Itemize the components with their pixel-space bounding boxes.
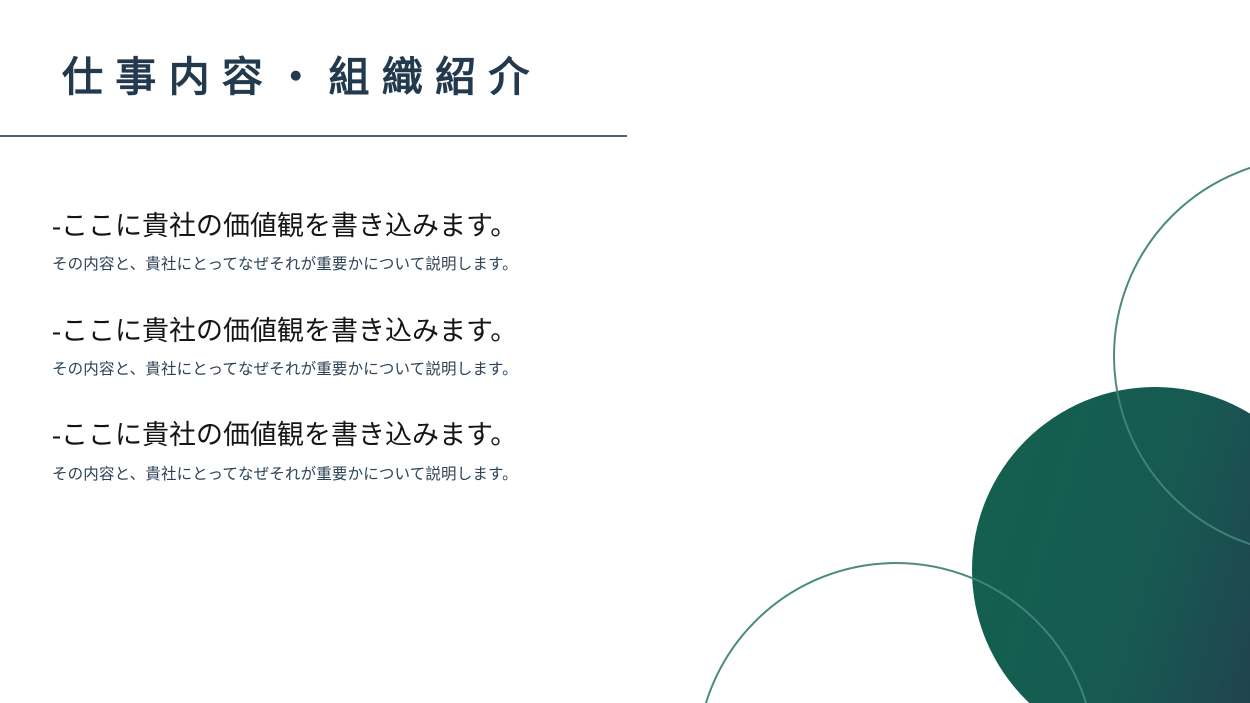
value-heading: -ここに貴社の価値観を書き込みます。 xyxy=(52,313,812,349)
value-description: その内容と、貴社にとってなぜそれが重要かについて説明します。 xyxy=(52,253,812,276)
gradient-circle-shape xyxy=(972,387,1250,703)
title-block: 仕事内容・組織紹介 xyxy=(0,52,700,103)
value-heading: -ここに貴社の価値観を書き込みます。 xyxy=(52,417,812,453)
outline-circle-top-right-shape xyxy=(1114,158,1250,554)
value-description: その内容と、貴社にとってなぜそれが重要かについて説明します。 xyxy=(52,463,812,486)
value-block: -ここに貴社の価値観を書き込みます。 その内容と、貴社にとってなぜそれが重要かに… xyxy=(52,313,812,382)
value-heading: -ここに貴社の価値観を書き込みます。 xyxy=(52,208,812,244)
slide-canvas: 仕事内容・組織紹介 -ここに貴社の価値観を書き込みます。 その内容と、貴社にとっ… xyxy=(0,0,1250,703)
page-title: 仕事内容・組織紹介 xyxy=(0,52,700,103)
value-description: その内容と、貴社にとってなぜそれが重要かについて説明します。 xyxy=(52,358,812,381)
value-block: -ここに貴社の価値観を書き込みます。 その内容と、貴社にとってなぜそれが重要かに… xyxy=(52,417,812,486)
outline-circle-bottom-shape xyxy=(697,563,1095,703)
values-list: -ここに貴社の価値観を書き込みます。 その内容と、貴社にとってなぜそれが重要かに… xyxy=(52,208,812,486)
value-block: -ここに貴社の価値観を書き込みます。 その内容と、貴社にとってなぜそれが重要かに… xyxy=(52,208,812,277)
title-divider xyxy=(0,135,627,137)
